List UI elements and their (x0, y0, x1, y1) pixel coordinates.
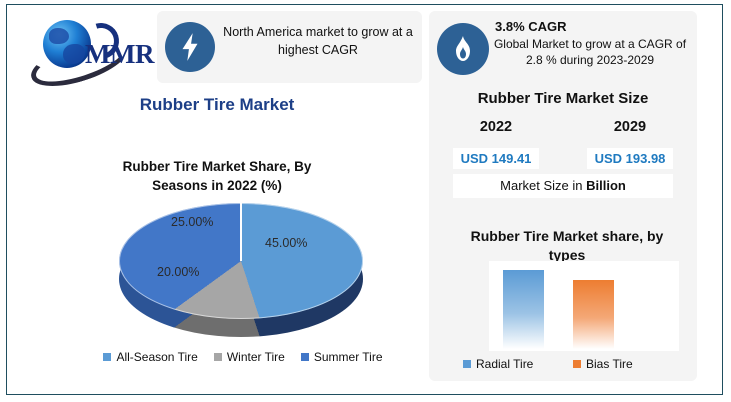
legend-label-all-season: All-Season Tire (116, 350, 197, 364)
cagr-body-text: Global Market to grow at a CAGR of 2.8 %… (491, 36, 689, 68)
value-cell-2022: USD 149.41 (429, 148, 563, 169)
pie-chart: 45.00% 20.00% 25.00% (119, 203, 363, 345)
legend-label-summer: Summer Tire (314, 350, 383, 364)
legend-label-radial: Radial Tire (476, 357, 533, 371)
bar-radial-tire (503, 270, 544, 349)
market-size-title: Rubber Tire Market Size (429, 90, 697, 107)
pie-chart-title: Rubber Tire Market Share, By Seasons in … (95, 157, 339, 195)
pie-slice-divider (240, 203, 242, 261)
legend-swatch-all-season (103, 353, 111, 361)
infographic-canvas: MMR North America market to grow at a hi… (6, 4, 723, 395)
mmr-logo: MMR (21, 13, 171, 75)
bar-chart-plot (489, 261, 679, 351)
north-america-callout: North America market to grow at a highes… (157, 11, 422, 83)
legend-item-summer-tire: Summer Tire (301, 350, 383, 364)
legend-label-bias: Bias Tire (586, 357, 633, 371)
lightning-bolt-icon (165, 22, 215, 72)
pie-label-all-season: 45.00% (265, 236, 307, 250)
cagr-headline: 3.8% CAGR (495, 19, 567, 34)
logo-wordmark: MMR (85, 39, 154, 70)
legend-item-all-season-tire: All-Season Tire (103, 350, 197, 364)
legend-swatch-radial (463, 360, 471, 368)
market-size-unit-bold: Billion (586, 178, 626, 193)
legend-swatch-summer (301, 353, 309, 361)
year-2022: 2022 (429, 119, 563, 135)
legend-swatch-winter (214, 353, 222, 361)
legend-item-radial-tire: Radial Tire (463, 357, 573, 371)
bar-chart-title: Rubber Tire Market share, by types (453, 227, 681, 265)
bar-bias-tire (573, 280, 614, 349)
market-size-unit: Market Size in Billion (429, 178, 697, 193)
legend-label-winter: Winter Tire (227, 350, 285, 364)
market-size-values: USD 149.41 USD 193.98 (429, 148, 697, 169)
cagr-card: 3.8% CAGR Global Market to grow at a CAG… (429, 15, 697, 87)
market-size-years: 2022 2029 (429, 119, 697, 135)
pie-label-summer: 25.00% (171, 215, 213, 229)
market-value-2022: USD 149.41 (453, 148, 540, 169)
value-cell-2029: USD 193.98 (563, 148, 697, 169)
market-value-2029: USD 193.98 (587, 148, 674, 169)
year-2029: 2029 (563, 119, 697, 135)
bar-chart-legend: Radial Tire Bias Tire (463, 357, 683, 371)
market-size-unit-prefix: Market Size in (500, 178, 586, 193)
legend-swatch-bias (573, 360, 581, 368)
callout-text: North America market to grow at a highes… (219, 23, 417, 59)
legend-item-bias-tire: Bias Tire (573, 357, 683, 371)
flame-icon (437, 23, 489, 75)
legend-item-winter-tire: Winter Tire (214, 350, 285, 364)
pie-label-winter: 20.00% (157, 265, 199, 279)
pie-chart-legend: All-Season Tire Winter Tire Summer Tire (103, 350, 383, 364)
page-title: Rubber Tire Market (67, 95, 367, 115)
right-panel: 3.8% CAGR Global Market to grow at a CAG… (429, 11, 697, 381)
